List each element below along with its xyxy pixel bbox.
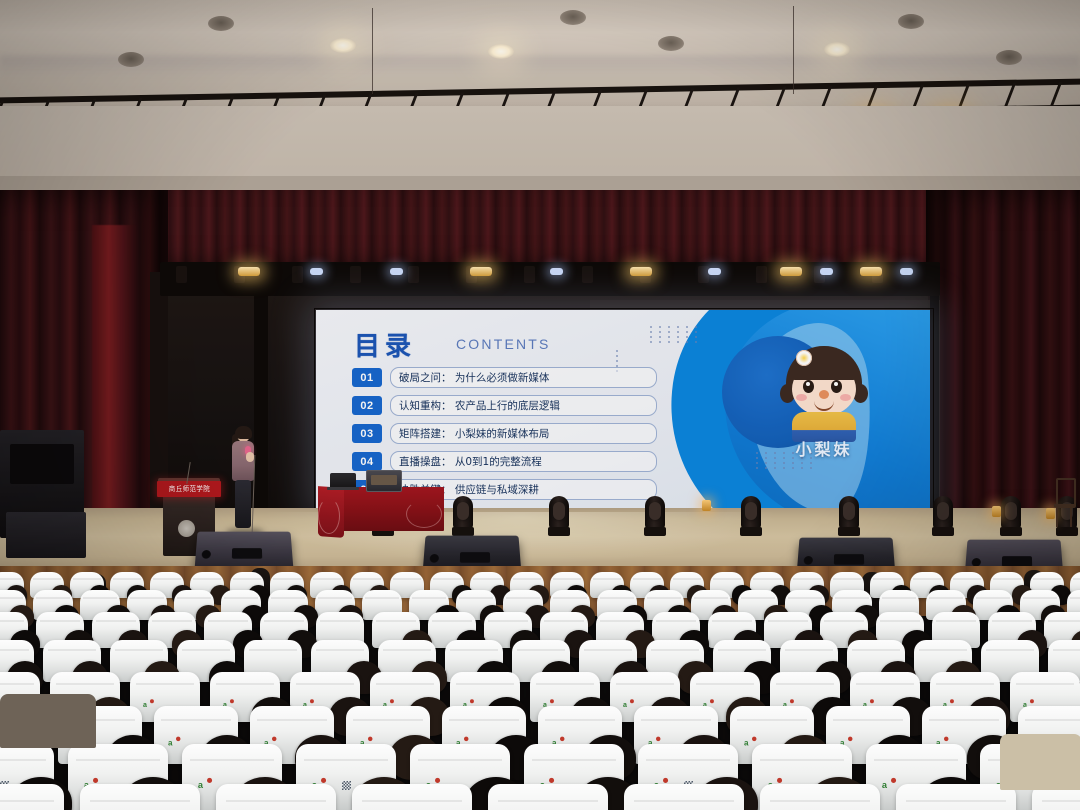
stage-chair-leg: [1070, 507, 1072, 527]
decorative-dot: [659, 331, 661, 333]
monitor-grille: [460, 552, 490, 563]
mascot-illustration: 小梨妹: [770, 340, 878, 470]
slide-contents-number: 02: [352, 396, 382, 415]
moving-head-light: [452, 492, 474, 536]
seat-logo-dot: [752, 737, 756, 741]
seat-logo-dot: [656, 737, 660, 741]
auditorium-scene: 目录 CONTENTS 01破局之问： 为什么必须做新媒体02认知重构： 农产品…: [0, 0, 1080, 810]
audience-seat: a: [80, 784, 200, 810]
light-bar-can: [176, 266, 187, 283]
decorative-dot: [616, 355, 618, 357]
decorative-dot: [668, 341, 670, 343]
moving-head-light: [1000, 492, 1022, 536]
podium-name-plate-text: 商丘师范学院: [168, 484, 209, 494]
decorative-dot: [677, 336, 679, 338]
presenter-trousers: [235, 480, 251, 528]
decorative-dot: [650, 331, 652, 333]
seat-logo-text: a: [623, 702, 627, 709]
audience-seat: a: [760, 784, 880, 810]
slide-contents-row: 02认知重构： 农产品上行的底层逻辑: [352, 394, 657, 417]
light-bar-cool-lamp: [310, 268, 323, 275]
decorative-dot: [686, 331, 688, 333]
mascot-cheek-right: [840, 394, 851, 401]
seat-qr-code: [342, 781, 351, 790]
seat-logo-dot: [272, 737, 276, 741]
decorative-dot: [756, 457, 758, 459]
decorative-dot: [668, 336, 670, 338]
seat-logo-dot: [790, 699, 794, 703]
moving-head-base: [838, 527, 860, 536]
light-bar-warm-lamp: [780, 267, 802, 276]
moving-head-base: [932, 527, 954, 536]
ceiling-downlight-off: [658, 36, 684, 51]
seat-logo-text: a: [744, 739, 748, 747]
light-bar-warm-lamp: [470, 267, 492, 276]
mascot-name-label: 小梨妹: [770, 436, 878, 460]
decorative-dot: [650, 341, 652, 343]
seat-logo-dot: [870, 699, 874, 703]
seat-logo-dot: [310, 699, 314, 703]
ceiling-downlight-on: [488, 44, 514, 59]
decorative-dot: [765, 462, 767, 464]
slide-contents-text: 破局之问： 为什么必须做新媒体: [390, 367, 657, 388]
seat-logo-dot: [230, 699, 234, 703]
ceiling-downlight-off: [118, 52, 144, 67]
stage-wing-strip-left: [254, 292, 268, 532]
seat-logo-dot: [93, 778, 98, 783]
stage-cable: [406, 500, 442, 528]
seat-logo-text: a: [198, 781, 203, 790]
seat-logo-dot: [464, 737, 468, 741]
moving-head-lens: [457, 502, 469, 520]
slide-contents-row: 01破局之问： 为什么必须做新媒体: [352, 366, 657, 389]
monitor-port: [201, 550, 211, 559]
ceiling-downlight-on: [824, 42, 850, 57]
monitor-grille: [232, 548, 262, 559]
decorative-dot: [616, 350, 618, 352]
slide-title: 目录: [354, 326, 416, 363]
mascot-nose: [819, 390, 829, 399]
audience-seat: a: [0, 784, 64, 810]
mascot-cheek-left: [796, 394, 807, 401]
seat-logo-dot: [321, 778, 326, 783]
moving-head-lens: [1005, 502, 1017, 520]
light-bar-warm-lamp: [630, 267, 652, 276]
light-bar-can: [292, 266, 303, 283]
slide-contents-row: 03矩阵搭建： 小梨妹的新媒体布局: [352, 422, 657, 445]
decorative-dot: [756, 462, 758, 464]
moving-head-base: [1000, 527, 1022, 536]
slide-contents-text: 直播操盘： 从0到1的完整流程: [390, 451, 657, 472]
moving-head-base: [740, 527, 762, 536]
seat-logo-dot: [848, 737, 852, 741]
wall-shadow-edge: [0, 176, 1080, 190]
seat-logo-dot: [176, 737, 180, 741]
dot-grid-top: [650, 326, 701, 343]
seat-logo-dot: [950, 699, 954, 703]
stage-floor-lamp: [702, 500, 711, 511]
light-bar-can: [582, 266, 593, 283]
decorative-dot: [668, 326, 670, 328]
decorative-dot: [686, 341, 688, 343]
seat-logo-text: a: [168, 739, 172, 747]
light-bar-can: [350, 266, 361, 283]
audience-seat: a: [488, 784, 608, 810]
ceiling-drop-wire: [372, 8, 373, 94]
ceiling-drop-wire: [793, 6, 794, 94]
decorative-dot: [650, 336, 652, 338]
av-equipment-box: [366, 470, 402, 492]
audience-seat: a: [216, 784, 336, 810]
seat-cover-logo: a: [198, 778, 216, 790]
seat-logo-dot: [390, 699, 394, 703]
light-bar-warm-lamp: [860, 267, 882, 276]
mascot-flower-icon: [796, 350, 812, 366]
monitor-grille: [834, 554, 864, 565]
light-bar-can: [524, 266, 535, 283]
slide-contents-number: 03: [352, 424, 382, 443]
ceiling-band: [0, 56, 1080, 76]
moving-head-lens: [649, 502, 661, 520]
seat-logo-dot: [549, 778, 554, 783]
stage-light-bar: [160, 262, 940, 296]
moving-head-base: [452, 527, 474, 536]
ceiling-downlight-off: [208, 16, 234, 31]
seat-cover-logo: a: [623, 699, 637, 708]
moving-head-lens: [553, 502, 565, 520]
decorative-dot: [668, 331, 670, 333]
curtain-left-highlight: [92, 225, 136, 555]
decorative-dot: [695, 326, 697, 328]
audience-seat: a: [624, 784, 744, 810]
decorative-dot: [616, 360, 618, 362]
slide: 目录 CONTENTS 01破局之问： 为什么必须做新媒体02认知重构： 农产品…: [316, 310, 930, 510]
laptop-base: [327, 487, 359, 490]
laptop: [330, 473, 356, 488]
seat-logo-dot: [207, 778, 212, 783]
decorative-dot: [659, 341, 661, 343]
audience-seat: a: [896, 784, 1016, 810]
decorative-dot: [765, 452, 767, 454]
decorative-dot: [659, 326, 661, 328]
decorative-dot: [765, 457, 767, 459]
decorative-dot: [677, 341, 679, 343]
decorative-dot: [677, 331, 679, 333]
podium-emblem: [178, 520, 195, 537]
podium-name-plate: 商丘师范学院: [157, 481, 221, 497]
seat-cover-logo: a: [168, 737, 184, 748]
light-bar-warm-lamp: [238, 267, 260, 276]
seat-logo-dot: [560, 737, 564, 741]
decorative-dot: [650, 326, 652, 328]
mascot-eye-right: [831, 380, 842, 393]
stage-floor-lamp: [992, 506, 1001, 517]
slide-contents-text: 认知重构： 农产品上行的底层逻辑: [390, 395, 657, 416]
mascot-eye-left: [803, 380, 814, 393]
moving-head-light: [838, 492, 860, 536]
monitor-port: [803, 556, 813, 565]
moving-head-base: [1056, 527, 1078, 536]
moving-head-light: [548, 492, 570, 536]
seat-logo-dot: [150, 699, 154, 703]
seat-logo-dot: [710, 699, 714, 703]
light-bar-cool-lamp: [708, 268, 721, 275]
stage-chair-leg: [1056, 507, 1058, 527]
moving-head-base: [644, 527, 666, 536]
moving-head-lens: [843, 502, 855, 520]
av-equipment-screen: [371, 475, 397, 485]
decorative-dot: [686, 326, 688, 328]
audience-coat: [0, 694, 96, 748]
slide-subtitle: CONTENTS: [456, 336, 551, 352]
stage-chair: [1052, 478, 1076, 528]
moving-head-base: [548, 527, 570, 536]
decorative-dot: [686, 336, 688, 338]
light-bar-can: [408, 266, 419, 283]
ceiling-downlight-on: [330, 38, 356, 53]
pa-speaker-grille: [10, 444, 74, 484]
seat-logo-dot: [435, 778, 440, 783]
decorative-dot: [695, 341, 697, 343]
decorative-dot: [756, 467, 758, 469]
slide-contents-number: 01: [352, 368, 382, 387]
presentation-screen: 目录 CONTENTS 01破局之问： 为什么必须做新媒体02认知重构： 农产品…: [316, 310, 930, 510]
presenter-hand: [246, 452, 254, 462]
seat-logo-dot: [944, 737, 948, 741]
light-bar-cool-lamp: [900, 268, 913, 275]
light-bar-cool-lamp: [390, 268, 403, 275]
decorative-dot: [756, 452, 758, 454]
seat-logo-dot: [663, 778, 668, 783]
audience-area: aaaaaaaaaaaaaaaaaaaaaaaaaaaaaaaaaaaaaaaa…: [0, 566, 1080, 810]
seat-logo-dot: [368, 737, 372, 741]
decorative-dot: [659, 336, 661, 338]
seat-cover-logo: a: [143, 699, 157, 708]
stage-cable: [318, 498, 340, 534]
decorative-dot: [677, 326, 679, 328]
pa-speaker-sub: [6, 512, 86, 558]
moving-head-light: [740, 492, 762, 536]
moving-head-lens: [937, 502, 949, 520]
light-bar-cool-lamp: [550, 268, 563, 275]
light-bar-cool-lamp: [820, 268, 833, 275]
ceiling-downlight-off: [996, 50, 1022, 65]
seat-logo-text: a: [143, 702, 147, 709]
slide-contents-number: 04: [352, 452, 382, 471]
slide-contents-text: 矩阵搭建： 小梨妹的新媒体布局: [390, 423, 657, 444]
seat-logo-text: a: [882, 781, 887, 790]
seat-logo-dot: [550, 699, 554, 703]
seat-logo-dot: [1030, 699, 1034, 703]
decorative-dot: [695, 331, 697, 333]
moving-head-light: [932, 492, 954, 536]
audience-coat: [1000, 734, 1080, 790]
light-bar-can: [756, 266, 767, 283]
light-bar-can: [698, 266, 709, 283]
decorative-dot: [695, 336, 697, 338]
presenter-hair: [235, 426, 252, 439]
ceiling-downlight-off: [560, 10, 586, 25]
seat-logo-dot: [470, 699, 474, 703]
decorative-dot: [765, 467, 767, 469]
ceiling-downlight-off: [898, 14, 924, 29]
seat-logo-dot: [891, 778, 896, 783]
audience-seat: a: [352, 784, 472, 810]
moving-head-lens: [745, 502, 757, 520]
seat-logo-dot: [630, 699, 634, 703]
moving-head-light: [644, 492, 666, 536]
monitor-port: [429, 554, 439, 563]
seat-logo-dot: [777, 778, 782, 783]
